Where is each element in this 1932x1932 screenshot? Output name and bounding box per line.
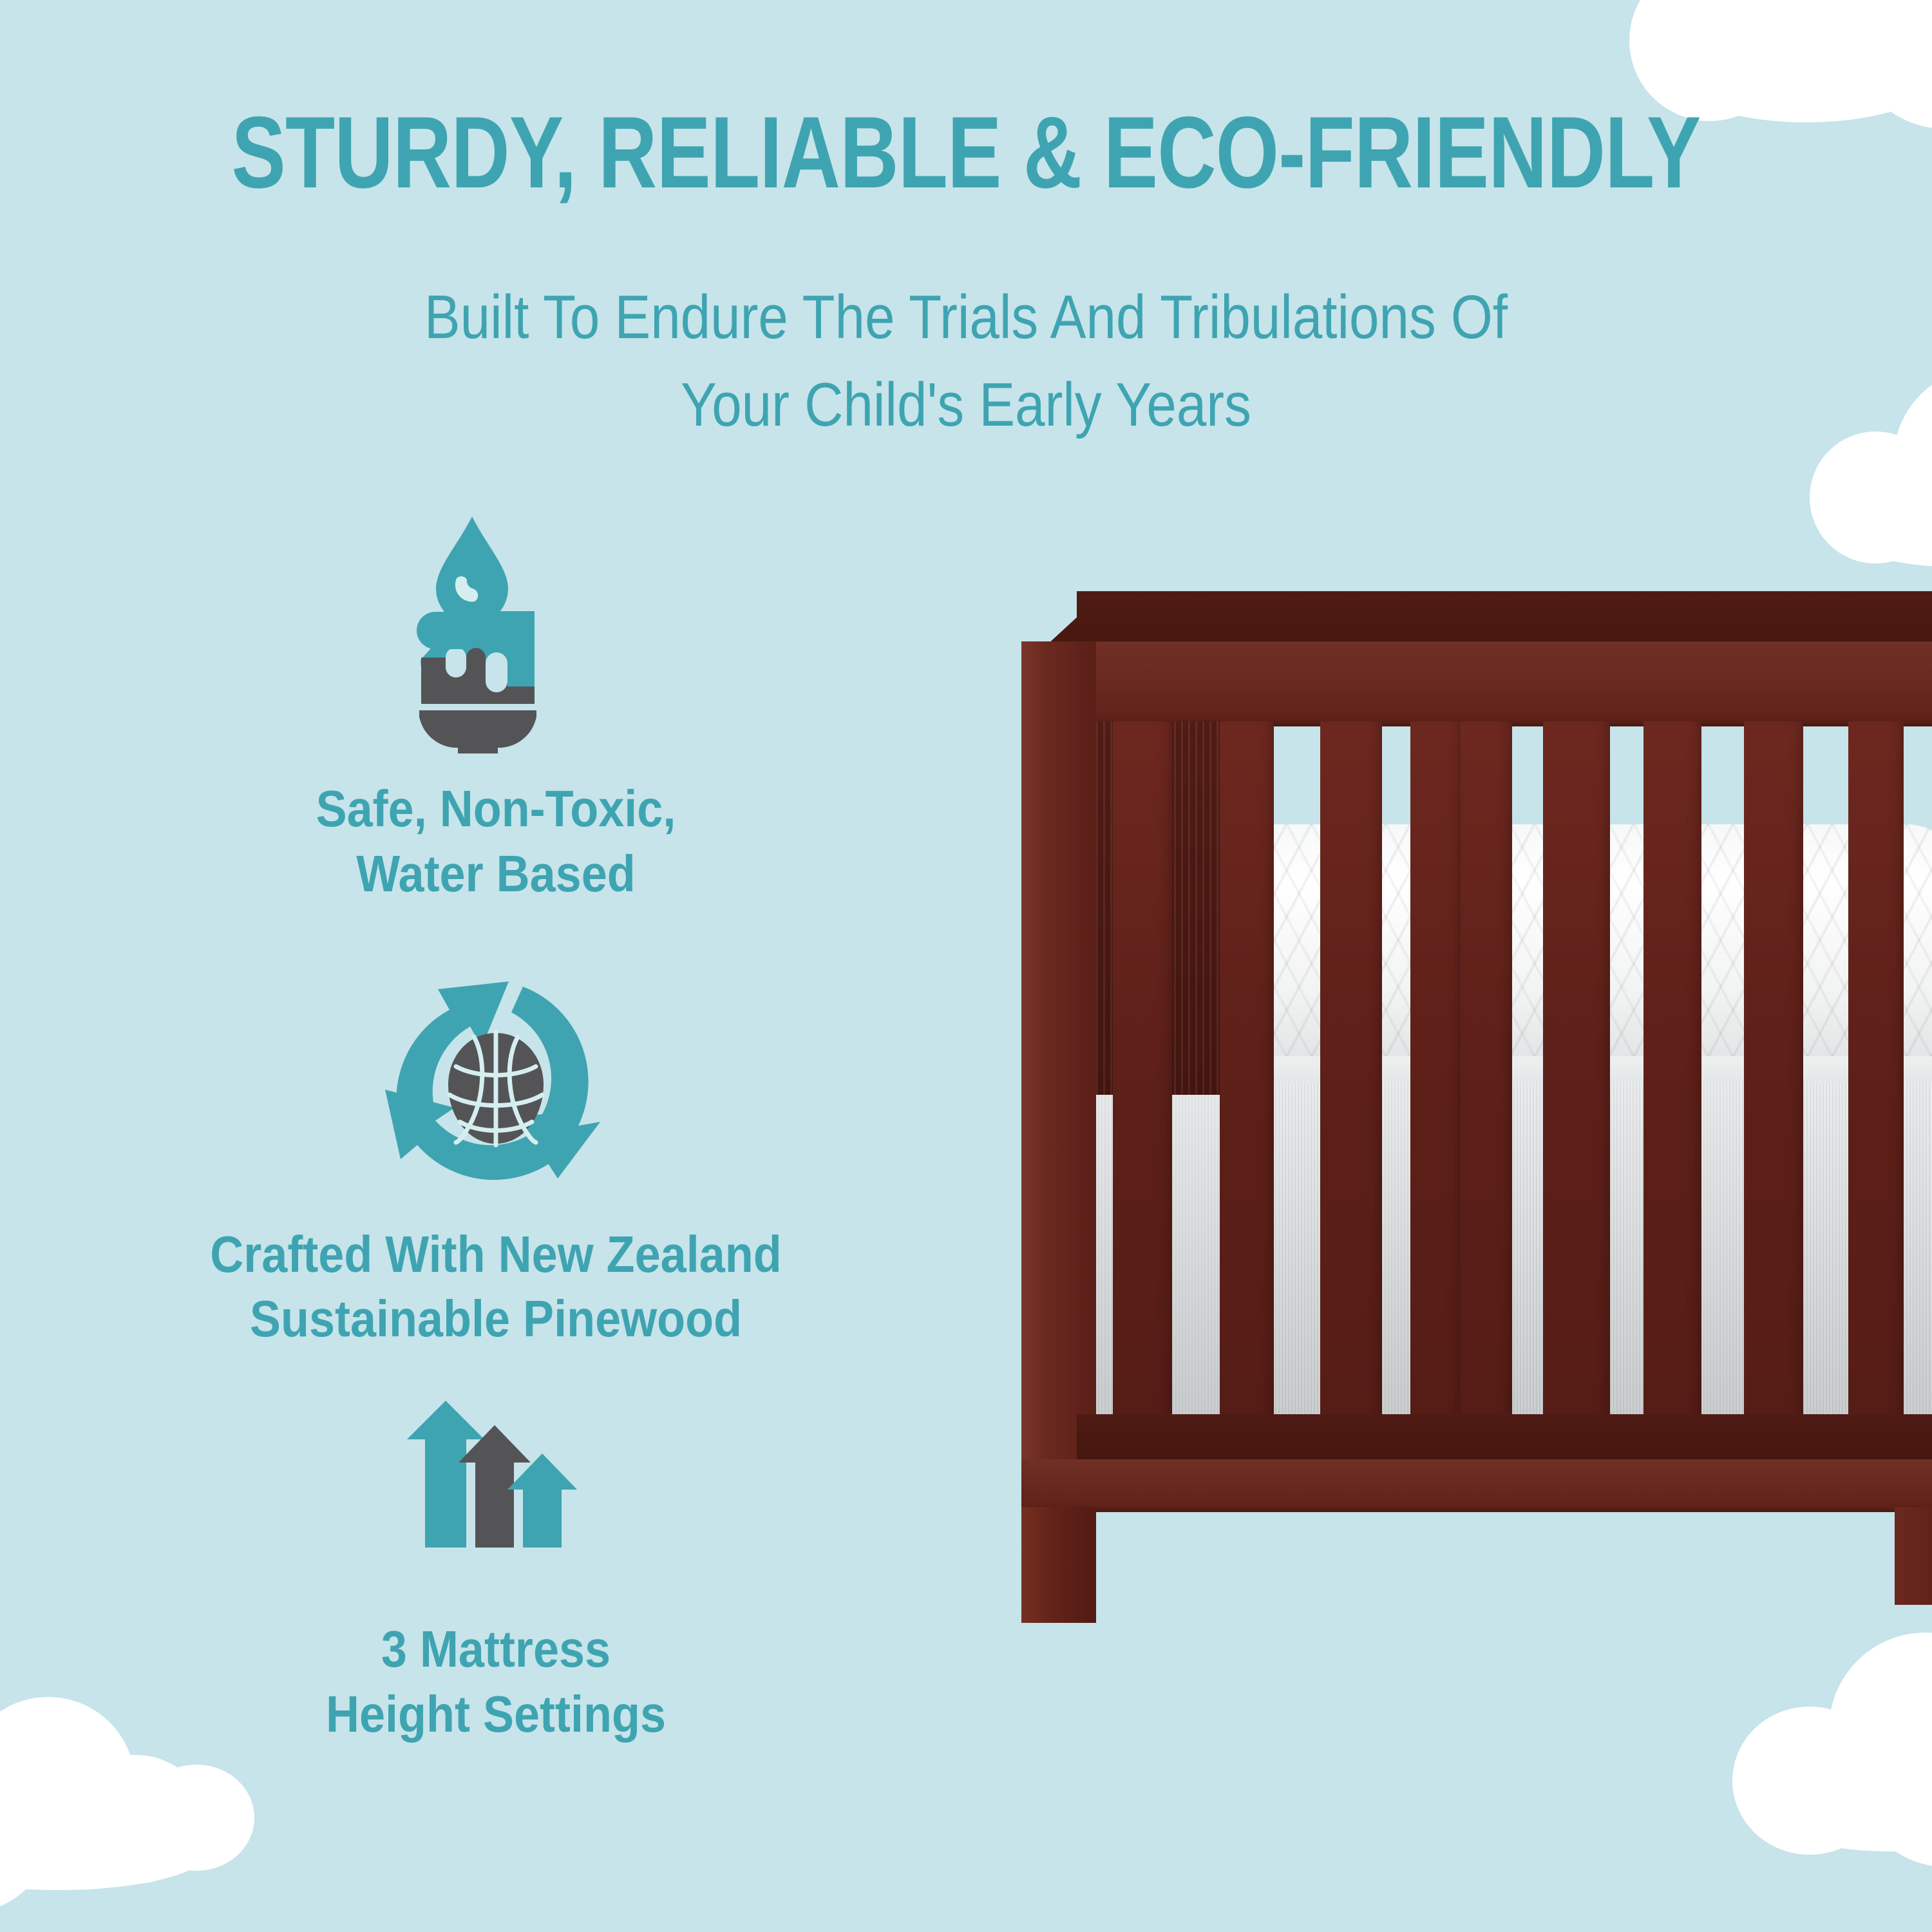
feature-label-safe-non-toxic: Safe, Non-Toxic, Water Based [119,777,873,907]
feature-item-safe-non-toxic: Safe, Non-Toxic, Water Based [77,509,914,907]
crib-slat [1220,721,1274,1449]
feature-3-line-2: Height Settings [119,1682,873,1747]
cloud-bottom-right [1732,1639,1932,1851]
feature-1-line-2: Water Based [119,842,873,907]
convertible-crib-product-image [960,599,1932,1655]
feature-label-sustainable-pinewood: Crafted With New Zealand Sustainable Pin… [119,1222,873,1352]
crib-slat [1744,721,1803,1449]
crib-leg-left [1021,1507,1096,1623]
page-title: STURDY, RELIABLE & ECO-FRIENDLY [193,102,1739,204]
cloud-right-upper [1810,386,1932,580]
feature-2-line-1: Crafted With New Zealand [119,1222,873,1287]
infographic-canvas: STURDY, RELIABLE & ECO-FRIENDLY Built To… [0,0,1932,1932]
feature-2-line-2: Sustainable Pinewood [119,1287,873,1352]
crib-slat [1461,721,1512,1449]
three-up-arrows-icon [399,1398,592,1598]
feature-1-line-1: Safe, Non-Toxic, [119,777,873,842]
recycle-pinecone-icon [374,962,618,1207]
feature-3-line-1: 3 Mattress [119,1617,873,1682]
subtitle-line-1: Built To Endure The Trials And Tribulati… [126,274,1806,361]
feature-label-mattress-heights: 3 Mattress Height Settings [119,1617,873,1747]
feature-item-sustainable-pinewood: Crafted With New Zealand Sustainable Pin… [77,962,914,1352]
crib-slat [1410,721,1462,1449]
feature-list: Safe, Non-Toxic, Water Based [77,509,914,1747]
crib-slat [1543,721,1610,1449]
page-subtitle: Built To Endure The Trials And Tribulati… [126,274,1806,450]
crib-lower-rail-front [1021,1459,1932,1512]
paint-brush-water-drop-icon [402,509,589,753]
crib-slat [1643,721,1701,1449]
crib-lower-rail-upper [1077,1414,1932,1462]
crib-front-top-rail [1021,641,1932,726]
crib-leg-right [1895,1507,1932,1605]
subtitle-line-2: Your Child's Early Years [126,361,1806,449]
crib-slat [1848,721,1904,1449]
crib-slat [1113,721,1172,1449]
feature-item-mattress-heights: 3 Mattress Height Settings [77,1398,914,1747]
crib-slat [1320,721,1382,1449]
